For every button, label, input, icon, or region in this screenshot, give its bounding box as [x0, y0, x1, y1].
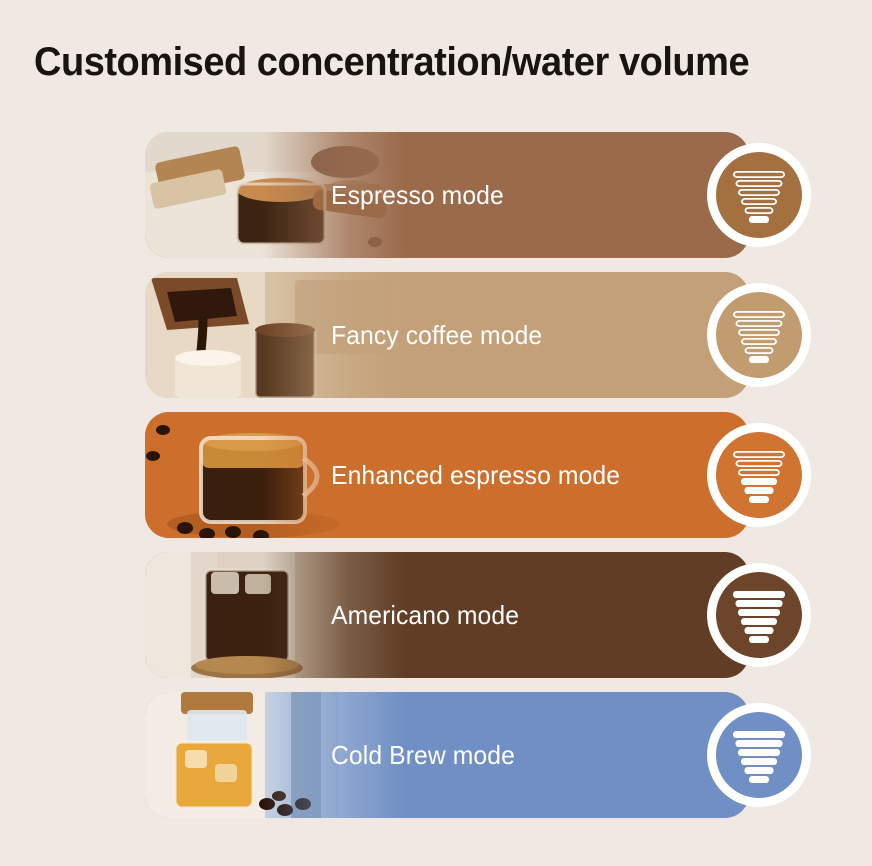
mode-card[interactable]: Americano mode [145, 552, 749, 678]
mode-badge[interactable] [707, 703, 811, 807]
mode-label: Americano mode [331, 552, 519, 678]
mode-label: Espresso mode [331, 132, 504, 258]
funnel-concentration-icon [716, 152, 802, 238]
mode-card[interactable]: Cold Brew mode [145, 692, 749, 818]
mode-label: Enhanced espresso mode [331, 412, 620, 538]
mode-card-body: Enhanced espresso mode [145, 412, 749, 538]
page-title: Customised concentration/water volume [34, 40, 749, 85]
mode-card-body: Fancy coffee mode [145, 272, 749, 398]
mode-card[interactable]: Espresso mode [145, 132, 749, 258]
mode-badge[interactable] [707, 423, 811, 527]
mode-badge[interactable] [707, 283, 811, 387]
mode-selection-page: Customised concentration/water volume Es… [0, 0, 872, 866]
mode-card-body: Cold Brew mode [145, 692, 749, 818]
mode-card-body: Espresso mode [145, 132, 749, 258]
funnel-concentration-icon [716, 572, 802, 658]
mode-badge[interactable] [707, 563, 811, 667]
mode-card[interactable]: Fancy coffee mode [145, 272, 749, 398]
funnel-concentration-icon [716, 712, 802, 798]
funnel-concentration-icon [716, 292, 802, 378]
mode-card-list: Espresso mode Fancy coffee mode [0, 132, 872, 832]
mode-badge[interactable] [707, 143, 811, 247]
mode-card-body: Americano mode [145, 552, 749, 678]
mode-label: Cold Brew mode [331, 692, 515, 818]
mode-card[interactable]: Enhanced espresso mode [145, 412, 749, 538]
funnel-concentration-icon [716, 432, 802, 518]
mode-label: Fancy coffee mode [331, 272, 542, 398]
